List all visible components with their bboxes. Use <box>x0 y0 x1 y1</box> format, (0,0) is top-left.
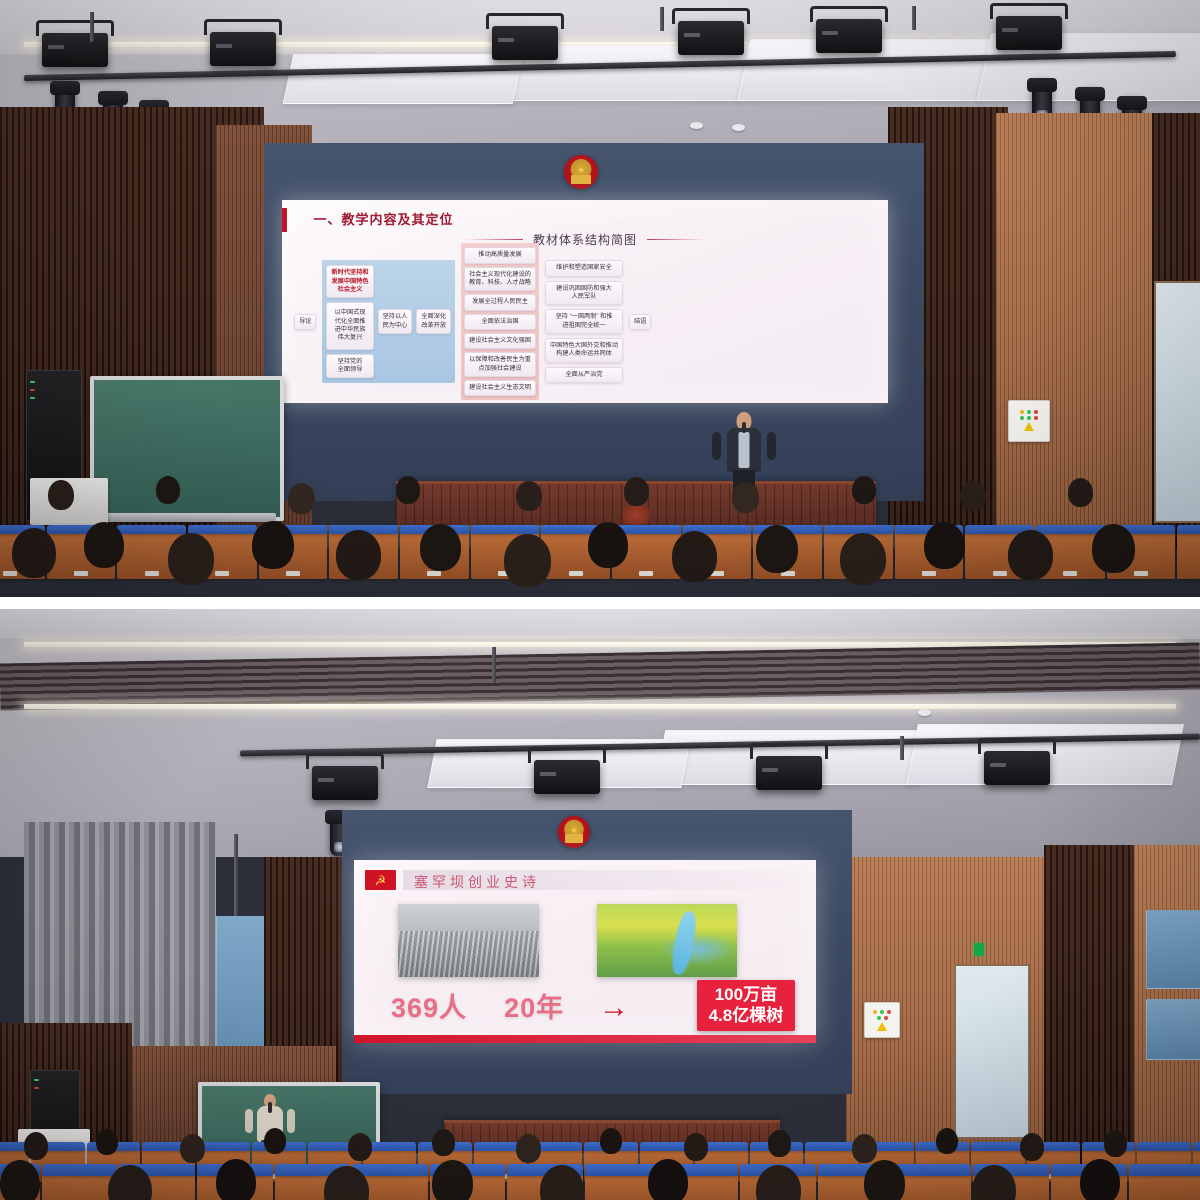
hammer-sickle-icon: ☭ <box>374 874 386 887</box>
diagram-intro-col: 导论 <box>294 314 316 330</box>
rack-led <box>34 1079 39 1081</box>
chip-right-item: 建设巩固国防和强大 人民军队 <box>545 281 623 306</box>
indicator-light-amber <box>873 1010 877 1014</box>
ceiling-spotlight <box>816 19 882 53</box>
chip-right-item: 全面从严治党 <box>545 367 623 383</box>
ceiling-spotlight <box>312 766 378 800</box>
gate-shape <box>571 175 590 184</box>
national-emblem-bottom: ★ <box>558 816 590 848</box>
rack-led <box>30 381 35 383</box>
ceiling-spotlight <box>42 33 108 67</box>
photo-top: ★ 一、教学内容及其定位 教材体系结构简图 导论 新时代坚持和 发展中国特色 社… <box>0 0 1200 597</box>
wall-control-panel[interactable] <box>864 1002 900 1038</box>
subtitle-rule-right <box>647 239 705 240</box>
stat-result-badge: 100万亩 4.8亿棵树 <box>697 980 796 1030</box>
gate-shape <box>565 834 583 842</box>
audience-head <box>852 476 876 504</box>
audience-head <box>936 1128 958 1154</box>
audience-head <box>756 1165 801 1200</box>
ceiling-spotlight <box>996 16 1062 50</box>
ceiling-spotlight <box>984 751 1050 785</box>
audience-head <box>732 482 759 513</box>
audience-head <box>648 1159 688 1200</box>
diagram-blue-group: 新时代坚持和 发展中国特色 社会主义 以中国式现 代化全面推 进中华民族 伟大复… <box>322 260 455 383</box>
blue-col-2: 坚持以人 民为中心 <box>378 309 413 334</box>
chip-right-item: 维护和塑造国家安全 <box>545 260 623 276</box>
chip-pink-item: 发展全过程人民民主 <box>464 294 536 310</box>
river-shape <box>669 910 699 977</box>
stat-years: 20年 <box>504 986 564 1025</box>
chip-conclusion: 结语 <box>629 314 651 330</box>
audience-head <box>48 480 74 510</box>
chip-intro: 导论 <box>294 314 316 330</box>
indicator-light-red <box>1034 416 1038 420</box>
slide-diagram: 导论 新时代坚持和 发展中国特色 社会主义 以中国式现 代化全面推 进中华民族 … <box>294 249 876 395</box>
audience-head <box>264 1128 286 1154</box>
rack-led <box>30 389 35 391</box>
star-icon: ★ <box>577 166 585 175</box>
ceiling-spotlight <box>210 32 276 66</box>
indicator-row <box>1020 416 1038 420</box>
microphone-top <box>742 422 746 433</box>
ceiling-tile <box>283 54 524 104</box>
cove-light-bottom-2 <box>24 704 1176 709</box>
exit-door[interactable] <box>954 964 1030 1139</box>
diagram-pink-group: 推动高质量发展 社会主义现代化建设的 教育、科技、人才战略 发展全过程人民民主 … <box>461 243 539 400</box>
presenter-arm-right <box>767 432 776 460</box>
microphone-bottom <box>268 1102 272 1113</box>
ceiling-spotlight <box>534 760 600 794</box>
warning-triangle-icon <box>877 1022 887 1031</box>
chip-blue-middle: 坚持以人 民为中心 <box>378 309 413 334</box>
audience-head <box>324 1166 369 1200</box>
chip-pink-item: 建设社会主义文化强国 <box>464 333 536 349</box>
audience-head <box>840 533 886 585</box>
audience-head <box>960 481 986 511</box>
indicator-light-red <box>887 1010 891 1014</box>
indicator-light-amber <box>1020 410 1024 414</box>
indicator-light-red <box>884 1016 888 1020</box>
warning-triangle-icon <box>1024 422 1034 431</box>
light-drop-rod <box>492 647 496 682</box>
indicator-light-green <box>877 1016 881 1020</box>
slide-title-1: 一、教学内容及其定位 <box>314 209 454 228</box>
audience-head <box>672 531 717 582</box>
indicator-light-green <box>880 1010 884 1014</box>
indicator-row <box>877 1016 888 1020</box>
party-emblem-badge: ☭ <box>365 870 395 890</box>
acoustic-panel-right <box>1146 999 1200 1060</box>
audience-head <box>1008 530 1053 580</box>
indicator-row <box>873 1010 891 1014</box>
indicator-light-green <box>1027 410 1031 414</box>
slide-accent-bar <box>282 208 287 232</box>
light-drop-rod <box>90 12 94 42</box>
light-drop-rod <box>900 736 904 760</box>
arrow-icon: → <box>599 993 629 1023</box>
national-emblem-top: ★ <box>564 155 598 189</box>
photo-stack: ★ 一、教学内容及其定位 教材体系结构简图 导论 新时代坚持和 发展中国特色 社… <box>0 0 1200 1200</box>
audience-mid-top <box>0 466 1200 538</box>
blue-col-1: 新时代坚持和 发展中国特色 社会主义 以中国式现 代化全面推 进中华民族 伟大复… <box>326 265 373 378</box>
slide-footer-bar <box>354 1035 816 1043</box>
audience-head <box>864 1160 905 1200</box>
chip-highlight: 新时代坚持和 发展中国特色 社会主义 <box>326 265 373 298</box>
slide-title-2: 塞罕坝创业史诗 <box>414 872 540 892</box>
audience-head <box>540 1165 584 1200</box>
presenter-arm-left <box>712 432 721 460</box>
stat-people: 369人 <box>391 986 467 1025</box>
audience-head <box>156 476 180 504</box>
chip-pink-item: 社会主义现代化建设的 教育、科技、人才战略 <box>464 267 536 292</box>
audience-head <box>108 1165 152 1200</box>
chip-pink-item: 建设社会主义生态文明 <box>464 380 536 396</box>
audience-head <box>972 1165 1016 1200</box>
ceiling-spotlight <box>492 26 558 60</box>
indicator-row <box>1020 410 1038 414</box>
indicator-light-green <box>1027 416 1031 420</box>
slide-subtitle-row: 教材体系结构简图 <box>282 231 888 248</box>
emergency-exit-sign <box>974 943 984 956</box>
projection-screen-top: 一、教学内容及其定位 教材体系结构简图 导论 新时代坚持和 发展中国特色 社会主… <box>282 200 888 403</box>
chip-right-item: 坚持 “一国两制” 和推 进祖国完全统一 <box>545 309 623 334</box>
chip-blue-item: 坚持党的 全面领导 <box>326 354 373 379</box>
indicator-light-red <box>1034 410 1038 414</box>
audience-head <box>600 1128 622 1154</box>
audience-bottom-front <box>0 1153 1200 1200</box>
audience-head <box>624 477 649 506</box>
wall-control-panel[interactable] <box>1008 400 1050 442</box>
slide-subtitle-1: 教材体系结构简图 <box>533 231 637 248</box>
projection-screen-bottom: ☭ 塞罕坝创业史诗 369人 20年 → 100万亩 4.8亿棵树 <box>354 860 816 1043</box>
audience-head <box>1080 1159 1120 1200</box>
chip-right-item: 中国特色大国外交和推动 构建人类命运共同体 <box>545 338 623 363</box>
chip-pink-item: 以保障和改善民生为重 点加强社会建设 <box>464 352 536 377</box>
photo-bottom: ★ ☭ 塞罕坝创业史诗 369人 20年 → 100万亩 4.8亿棵树 <box>0 609 1200 1200</box>
rack-led <box>34 1087 39 1089</box>
chip-pink-item: 全面依法治国 <box>464 314 536 330</box>
audience-head <box>288 483 315 514</box>
blue-col-3: 全面深化 改革开放 <box>416 309 451 334</box>
audience-head <box>396 476 420 504</box>
audience-head <box>96 1129 118 1155</box>
acoustic-panel-right <box>1146 910 1200 989</box>
diagram-conclusion-col: 结语 <box>629 314 651 330</box>
light-drop-rod <box>660 7 664 31</box>
ceiling-spotlight <box>756 756 822 790</box>
ceiling-soffit-bottom <box>0 609 1200 639</box>
chip-blue-middle: 全面深化 改革开放 <box>416 309 451 334</box>
photo-gap <box>0 597 1200 609</box>
audience-head <box>432 1160 473 1200</box>
audience-head <box>336 530 381 580</box>
slide-photo-after <box>597 904 738 977</box>
light-drop-rod <box>912 6 916 30</box>
presenter-shirt <box>739 432 750 468</box>
audience-head <box>168 533 214 585</box>
chip-pink-item: 推动高质量发展 <box>464 247 536 263</box>
subtitle-rule-left <box>465 239 523 240</box>
chip-blue-item: 以中国式现 代化全面推 进中华民族 伟大复兴 <box>326 302 373 349</box>
audience-head <box>0 1160 40 1200</box>
ceiling-spotlight <box>678 21 744 55</box>
diagram-right-group: 维护和塑造国家安全 建设巩固国防和强大 人民军队 坚持 “一国两制” 和推 进祖… <box>545 260 623 383</box>
slide-photo-before <box>398 904 539 977</box>
audience-head <box>216 1159 256 1200</box>
rack-led <box>30 397 35 399</box>
audience-head <box>504 534 551 587</box>
audience-head <box>516 481 542 511</box>
indicator-light-green <box>1020 416 1024 420</box>
audience-head <box>1068 478 1093 507</box>
